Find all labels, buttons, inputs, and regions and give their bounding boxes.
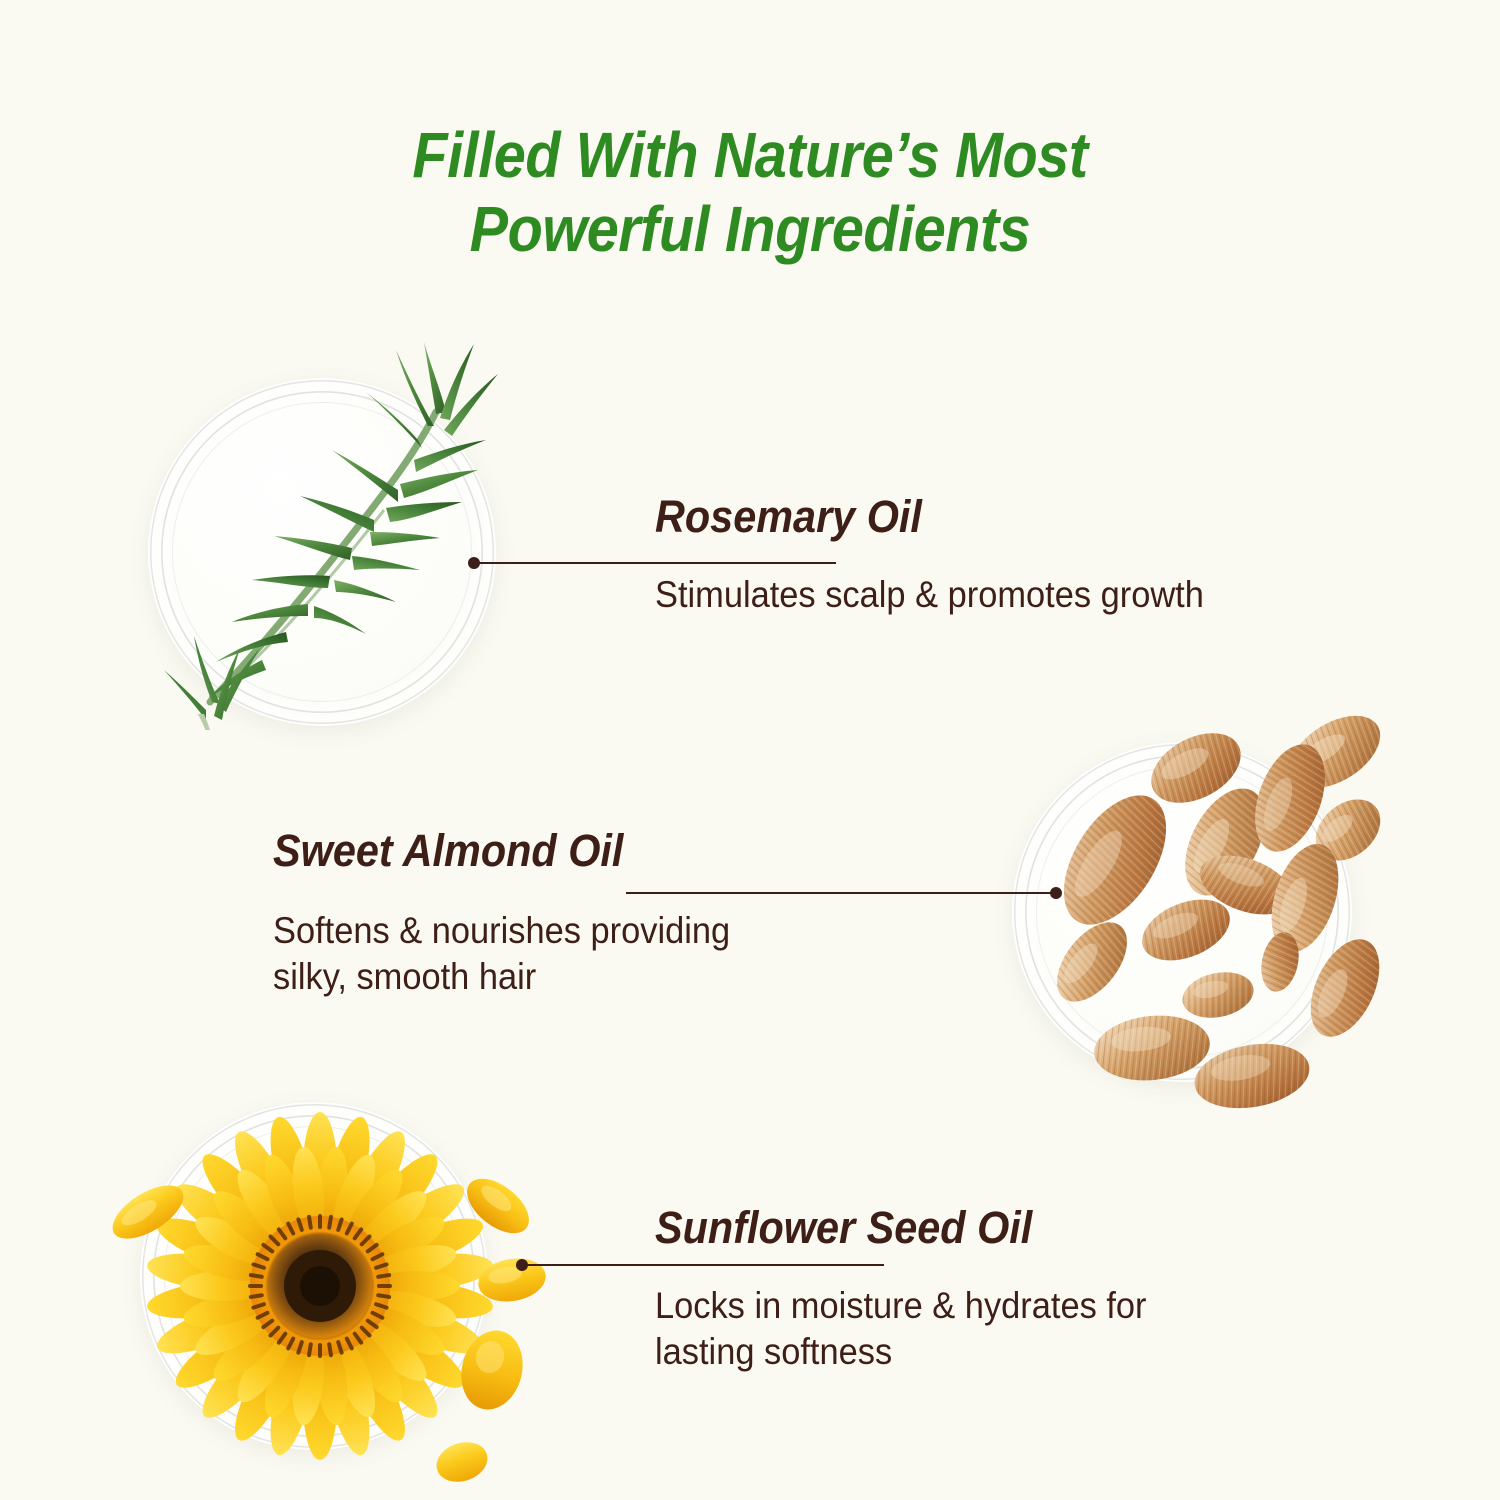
infographic-canvas: Filled With Nature’s Most Powerful Ingre… xyxy=(0,0,1500,1500)
page-title-line-1: Filled With Nature’s Most xyxy=(75,118,1425,192)
almonds-icon xyxy=(1000,690,1420,1110)
ingredient-description-rosemary: Stimulates scalp & promotes growth xyxy=(655,572,1204,618)
ingredient-block-almond: Sweet Almond Oil Softens & nourishes pro… xyxy=(273,826,765,1000)
sunflower-petal-bottom-right xyxy=(431,1436,492,1488)
ingredient-block-rosemary: Rosemary Oil Stimulates scalp & promotes… xyxy=(655,492,1245,618)
page-title: Filled With Nature’s Most Powerful Ingre… xyxy=(75,118,1425,266)
page-title-line-2: Powerful Ingredients xyxy=(75,192,1425,266)
ingredient-heading-sunflower: Sunflower Seed Oil xyxy=(655,1203,1141,1253)
ingredient-description-sunflower: Locks in moisture & hydrates for lasting… xyxy=(655,1283,1147,1375)
almond-connector-dot xyxy=(1050,887,1062,899)
rosemary-sprig-icon xyxy=(148,330,508,730)
ingredient-description-almond: Softens & nourishes providing silky, smo… xyxy=(273,908,730,1000)
sunflower-icon xyxy=(110,1090,550,1490)
ingredient-block-sunflower: Sunflower Seed Oil Locks in moisture & h… xyxy=(655,1203,1184,1375)
ingredient-heading-almond: Sweet Almond Oil xyxy=(273,826,725,876)
ingredient-heading-rosemary: Rosemary Oil xyxy=(655,492,1198,542)
